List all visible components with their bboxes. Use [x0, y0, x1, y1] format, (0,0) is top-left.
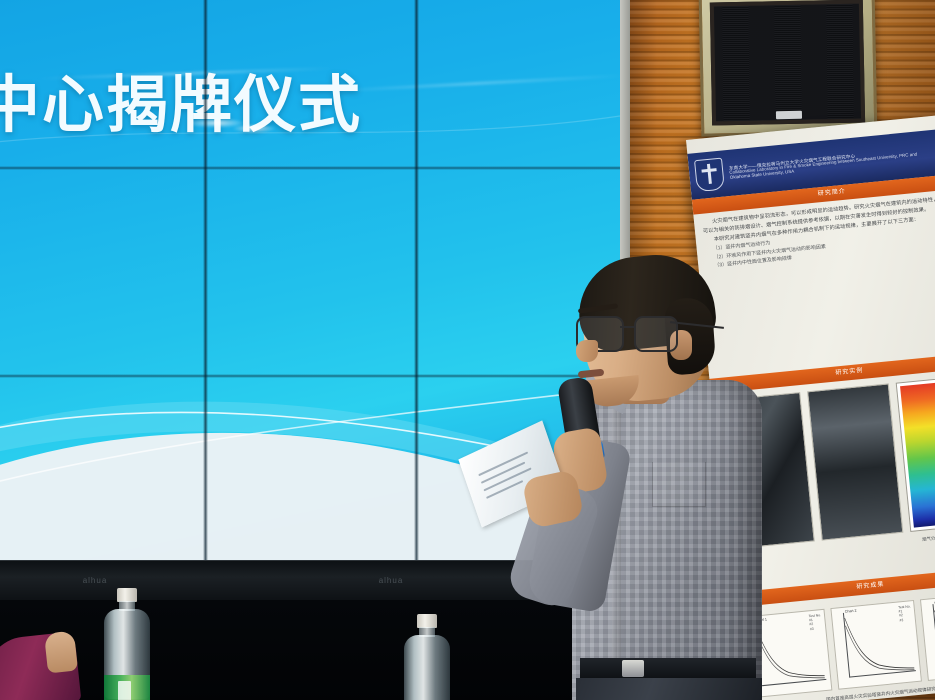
panel-seam-vertical [203, 0, 208, 582]
dahua-brand-right: alhua [368, 575, 414, 586]
presenter [520, 262, 760, 700]
attendee-skin [44, 631, 78, 674]
presenter-nose [576, 340, 598, 362]
bottle-body [404, 635, 450, 700]
bottle-label [104, 675, 150, 700]
paper-text-line [486, 480, 523, 499]
chart-legend-2: Test No. #1 #2 #3 [898, 604, 912, 622]
trousers [576, 678, 762, 700]
poster-header-text: 东南大学——俄克拉荷马州立大学火灾烟气工程联合研究中心 Collaborativ… [729, 146, 931, 181]
bottle-cap [117, 588, 137, 602]
heatmap-gradient [900, 379, 935, 528]
decay-chart-3: Chart 3 Test No. #1 #2 #3 [920, 591, 935, 681]
shirt-pocket [652, 462, 706, 507]
panel-seam-horizontal [0, 166, 620, 170]
poster-chart-row: Chart 1 Test No. #1 #2 #3 Chart 2 [741, 591, 935, 698]
chart-legend-1: Test No. #1 #2 #3 [808, 613, 822, 631]
belt [580, 658, 756, 680]
decay-chart-2: Chart 2 Test No. #1 #2 #3 [830, 600, 922, 690]
speaker-grille-icon [710, 0, 865, 125]
bottle-body [104, 609, 150, 699]
dahua-brand-left: alhua [72, 575, 118, 586]
wall-speaker [699, 0, 878, 137]
temperature-heatmap [895, 374, 935, 532]
bottle-cap [417, 614, 437, 628]
speaker-badge [776, 111, 802, 119]
panel-seam-vertical [414, 0, 419, 582]
experiment-photo-2 [807, 383, 903, 540]
photo-scene: 东南大学——俄克拉荷马州立大学火灾烟气工程联合研究中心 Collaborativ… [0, 0, 935, 700]
belt-buckle [622, 660, 644, 677]
photo-caption-3: 烟气分层三维图 [922, 534, 935, 543]
ceiling-light-reflection [232, 124, 276, 133]
seu-crest-icon [694, 158, 725, 193]
